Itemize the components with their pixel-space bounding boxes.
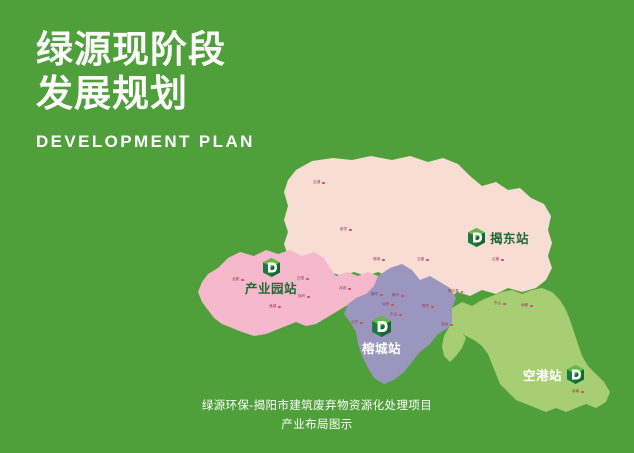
town-dot: [401, 295, 404, 298]
town-label: 云路: [492, 258, 504, 262]
town-label: 揭东县: [448, 290, 463, 294]
town-dot: [322, 182, 325, 185]
town-label: 月城: [339, 287, 351, 291]
station-label-jiedong: 揭东站: [490, 228, 529, 247]
town-dot: [391, 304, 394, 307]
title-block: 绿源现阶段 发展规划 DEVELOPMENT PLAN: [36, 28, 366, 152]
development-plan-poster: 绿源现阶段 发展规划 DEVELOPMENT PLAN 玉湖 新亨 锡场 玉窖 …: [0, 0, 634, 453]
town-dot: [382, 259, 385, 262]
town-label: 东山: [494, 302, 506, 306]
town-label: 白塔: [297, 277, 309, 281]
station-marker-rongcheng[interactable]: 榕城站: [362, 316, 401, 357]
town-dot: [503, 303, 506, 306]
town-label: 炮台: [441, 323, 453, 327]
town-dot: [581, 391, 584, 394]
station-label-rongcheng: 榕城站: [362, 338, 401, 357]
green-cube-logo-icon: [263, 258, 280, 277]
town-dot: [349, 229, 352, 232]
station-marker-jiedong[interactable]: 揭东站: [468, 228, 529, 247]
station-marker-chanyeyuan[interactable]: 产业园站: [245, 258, 297, 297]
town-dot: [307, 296, 310, 299]
town-label: 玉湖: [313, 181, 325, 185]
town-label: 溪南: [572, 390, 584, 394]
town-label: 龙尾: [232, 278, 244, 282]
green-cube-logo-icon: [567, 365, 584, 384]
station-label-chanyeyuan: 产业园站: [245, 278, 297, 297]
caption-block: 绿源环保-揭阳市建筑废弃物资源化处理项目 产业布局图示: [0, 397, 634, 435]
town-dot: [431, 306, 434, 309]
town-dot: [278, 306, 281, 309]
town-dot: [380, 294, 383, 297]
town-dot: [306, 278, 309, 281]
town-label: 仙桥: [382, 303, 394, 307]
town-label: 磐东: [371, 293, 383, 297]
town-label: 云东: [351, 321, 363, 325]
town-dot: [461, 291, 464, 294]
caption-line-1: 绿源环保-揭阳市建筑废弃物资源化处理项目: [0, 397, 634, 416]
town-label: 渔湖: [269, 305, 281, 309]
town-dot: [450, 324, 453, 327]
green-cube-logo-icon: [468, 228, 485, 247]
subtitle: DEVELOPMENT PLAN: [36, 132, 366, 152]
town-dot: [501, 259, 504, 262]
town-label: 新亨: [340, 228, 352, 232]
green-cube-logo-icon: [372, 316, 391, 337]
town-label: 玉窖: [417, 258, 429, 262]
title-line-1: 绿源现阶段: [36, 28, 366, 72]
caption-line-2: 产业布局图示: [0, 416, 634, 435]
station-label-konggang: 空港站: [523, 365, 562, 384]
town-label: 地都: [521, 304, 533, 308]
station-marker-konggang[interactable]: 空港站: [523, 365, 584, 384]
town-dot: [426, 259, 429, 262]
town-dot: [530, 305, 533, 308]
town-label: 榕东: [422, 305, 434, 309]
town-label: 桂岭: [298, 295, 310, 299]
title-line-2: 发展规划: [36, 72, 366, 116]
town-dot: [348, 288, 351, 291]
town-label: 锡场: [373, 258, 385, 262]
town-label: 新兴: [392, 294, 404, 298]
town-dot: [241, 279, 244, 282]
